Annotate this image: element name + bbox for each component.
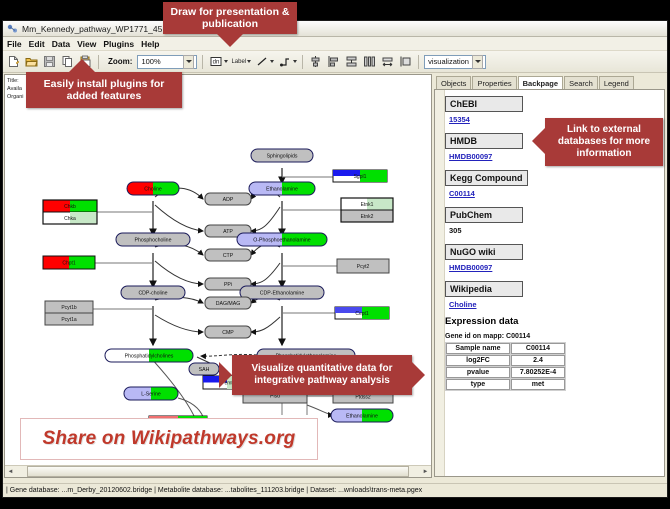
svg-text:SAH: SAH xyxy=(199,367,210,373)
svg-text:Etnk2: Etnk2 xyxy=(361,214,374,220)
svg-text:dn: dn xyxy=(213,60,220,66)
svg-text:Chka: Chka xyxy=(64,216,76,222)
callout-plugins: Easily install plugins for added feature… xyxy=(26,72,182,108)
title-bar: Mm_Kennedy_pathway_WP1771_45176.gpml xyxy=(3,21,667,37)
share-text: Share on Wikipathways.org xyxy=(43,428,296,450)
tab-objects[interactable]: Objects xyxy=(436,76,471,89)
gene-chpt1: Chpt1 xyxy=(43,256,95,269)
callout-draw-arrow xyxy=(217,34,243,47)
gene-sgpl1: Sgpl1 xyxy=(333,170,387,182)
canvas-hscrollbar[interactable]: ◄ ► xyxy=(5,465,431,477)
node-adp: ADP xyxy=(205,193,251,205)
expression-data-title: Expression data xyxy=(445,316,661,327)
pathway-drawing[interactable]: Title: Availa Organi xyxy=(5,75,431,477)
scroll-right-icon[interactable]: ► xyxy=(420,467,431,476)
node-cdp-ethanolamine: CDP-Ethanolamine xyxy=(240,286,324,299)
svg-text:CTP: CTP xyxy=(223,253,234,259)
table-row: Sample name C00114 xyxy=(446,343,565,354)
cell-key: pvalue xyxy=(446,367,510,378)
zoom-value: 100% xyxy=(141,57,160,66)
node-dag-mag: DAG/MAG xyxy=(205,297,251,309)
cell-key: type xyxy=(446,379,510,390)
cell-value: 7.80252E-4 xyxy=(511,367,565,378)
callout-link: Link to external databases for more info… xyxy=(545,118,663,166)
svg-text:Ethanolamine: Ethanolamine xyxy=(266,186,298,192)
menu-item-help[interactable]: Help xyxy=(141,39,159,49)
db-link-wikipedia[interactable]: Choline xyxy=(449,300,661,309)
meta-title: Title: xyxy=(7,78,24,86)
zoom-combo[interactable]: 100% xyxy=(137,55,197,69)
svg-text:Phosphatidylcholines: Phosphatidylcholines xyxy=(125,353,174,359)
cell-value: 2.4 xyxy=(511,355,565,366)
tab-properties[interactable]: Properties xyxy=(472,76,516,89)
gene-id-line: Gene id on mapp: C00114 xyxy=(445,333,661,340)
svg-text:Pcyt2: Pcyt2 xyxy=(357,264,370,270)
db-header-nugo: NuGO wiki xyxy=(445,244,523,260)
db-header-chebi: ChEBI xyxy=(445,96,523,112)
table-row: type met xyxy=(446,379,565,390)
db-value-pubchem: 305 xyxy=(449,226,661,235)
tool-bar[interactable]: Zoom: 100% dn Label xyxy=(3,51,667,73)
svg-text:DAG/MAG: DAG/MAG xyxy=(216,301,241,307)
toolbar-separator-3 xyxy=(302,55,303,69)
scroll-thumb[interactable] xyxy=(27,466,409,477)
db-link-nugo[interactable]: HMDB00097 xyxy=(449,263,661,272)
node-phosphocholine: Phosphocholine xyxy=(116,233,190,246)
gene-cept1: Cept1 xyxy=(335,307,389,319)
svg-text:Cept1: Cept1 xyxy=(355,311,369,317)
gene-pcyt1b: Pcyt1b xyxy=(45,301,93,313)
gene-pcyt1a: Pcyt1a xyxy=(45,313,93,325)
menu-item-file[interactable]: File xyxy=(7,39,22,49)
visualization-combo[interactable]: visualization xyxy=(424,55,486,69)
svg-text:Chpt1: Chpt1 xyxy=(62,261,76,267)
node-ethanolamine-top: Ethanolamine xyxy=(249,182,315,195)
callout-visualize-arrow xyxy=(219,362,232,388)
screenshot-root: Mm_Kennedy_pathway_WP1771_45176.gpml Fil… xyxy=(0,0,670,509)
cell-key: Sample name xyxy=(446,343,510,354)
meta-organism: Organi xyxy=(7,94,24,102)
menu-item-data[interactable]: Data xyxy=(52,39,70,49)
svg-text:Etnk1: Etnk1 xyxy=(361,202,374,208)
stack-vertical-icon[interactable] xyxy=(344,54,359,69)
node-phosphatidylcholines: Phosphatidylcholines xyxy=(105,349,193,362)
callout-visualize: Visualize quantitative data for integrat… xyxy=(232,355,412,395)
tab-backpage[interactable]: Backpage xyxy=(518,76,563,90)
db-header-hmdb: HMDB xyxy=(445,133,523,149)
svg-text:Ptdss2: Ptdss2 xyxy=(355,395,371,401)
svg-text:Sphingolipids: Sphingolipids xyxy=(267,153,298,159)
toolbar-separator-2 xyxy=(202,55,203,69)
menu-bar[interactable]: File Edit Data View Plugins Help xyxy=(3,37,667,51)
db-header-pubchem: PubChem xyxy=(445,207,523,223)
common-height-icon[interactable] xyxy=(398,54,413,69)
align-left-icon[interactable] xyxy=(326,54,341,69)
node-sphingolipids: Sphingolipids xyxy=(251,149,313,162)
line-icon[interactable] xyxy=(254,54,269,69)
gene-chkb-chka: Chkb Chka xyxy=(43,200,97,224)
menu-item-plugins[interactable]: Plugins xyxy=(103,39,134,49)
toolbar-separator xyxy=(98,55,99,69)
db-header-wikipedia: Wikipedia xyxy=(445,281,523,297)
svg-text:CMP: CMP xyxy=(222,330,234,336)
tab-search[interactable]: Search xyxy=(564,76,598,89)
toolbar-separator-4 xyxy=(418,55,419,69)
save-icon[interactable] xyxy=(42,54,57,69)
gene-etnk1-etnk2: Etnk1 Etnk2 xyxy=(341,198,393,222)
panel-vscrollbar[interactable] xyxy=(435,90,445,476)
datanode-dropdown[interactable]: dn xyxy=(208,54,228,69)
svg-text:Sgpl1: Sgpl1 xyxy=(354,174,367,180)
svg-text:PPi: PPi xyxy=(224,282,232,288)
label-icon[interactable]: Label xyxy=(231,59,246,65)
scroll-left-icon[interactable]: ◄ xyxy=(5,467,16,476)
canvas-meta-labels: Title: Availa Organi xyxy=(7,78,24,102)
callout-link-arrow xyxy=(532,128,545,154)
menu-item-edit[interactable]: Edit xyxy=(29,39,45,49)
svg-text:Pcyt1b: Pcyt1b xyxy=(61,305,77,311)
svg-text:CDP-Ethanolamine: CDP-Ethanolamine xyxy=(260,290,305,296)
callout-visualize-arrow-right xyxy=(412,362,425,388)
svg-text:ATP: ATP xyxy=(223,229,233,235)
svg-text:Phosphocholine: Phosphocholine xyxy=(135,237,172,243)
datanode-icon[interactable]: dn xyxy=(208,54,223,69)
new-icon[interactable] xyxy=(6,54,21,69)
meta-availability: Availa xyxy=(7,86,24,94)
common-width-icon[interactable] xyxy=(380,54,395,69)
status-text: | Gene database: ...m_Derby_20120602.bri… xyxy=(6,487,422,494)
svg-text:Chkb: Chkb xyxy=(64,204,76,210)
cell-value: met xyxy=(511,379,565,390)
svg-text:L-Serine: L-Serine xyxy=(141,391,161,397)
callout-draw: Draw for presentation & publication xyxy=(163,2,297,34)
tab-legend[interactable]: Legend xyxy=(599,76,634,89)
sidebar-tabs[interactable]: Objects Properties Backpage Search Legen… xyxy=(433,74,666,89)
chevron-down-icon[interactable] xyxy=(183,55,194,69)
node-ethanolamine-bottom: Ethanolamine xyxy=(331,409,393,422)
svg-text:CDP-choline: CDP-choline xyxy=(138,290,167,296)
node-l-serine-left: L-Serine xyxy=(124,387,178,400)
interaction-icon[interactable] xyxy=(277,54,292,69)
table-row: pvalue 7.80252E-4 xyxy=(446,367,565,378)
line-dropdown[interactable] xyxy=(254,54,274,69)
open-icon[interactable] xyxy=(24,54,39,69)
node-sah: SAH xyxy=(189,363,219,375)
expression-table: Sample name C00114 log2FC 2.4 pvalue 7.8… xyxy=(445,342,566,391)
svg-text:Ethanolamine: Ethanolamine xyxy=(346,413,378,419)
cell-key: log2FC xyxy=(446,355,510,366)
node-cmp: CMP xyxy=(205,326,251,338)
label-dropdown[interactable]: Label xyxy=(231,59,251,65)
menu-item-view[interactable]: View xyxy=(77,39,96,49)
db-link-kegg[interactable]: C00114 xyxy=(449,189,661,198)
status-bar: | Gene database: ...m_Derby_20120602.bri… xyxy=(3,483,667,497)
node-choline-top: Choline xyxy=(127,182,179,195)
callout-plugins-arrow xyxy=(69,59,95,72)
node-ctp: CTP xyxy=(205,249,251,261)
svg-text:Pcyt1a: Pcyt1a xyxy=(61,317,77,323)
gene-pcyt2: Pcyt2 xyxy=(337,259,389,273)
align-center-icon[interactable] xyxy=(308,54,323,69)
zoom-label: Zoom: xyxy=(108,57,132,66)
table-row: log2FC 2.4 xyxy=(446,355,565,366)
node-o-phosphoethanolamine: O-Phosphoethanolamine xyxy=(237,233,327,246)
svg-text:ADP: ADP xyxy=(223,197,234,203)
svg-text:Choline: Choline xyxy=(144,186,162,192)
callout-share: Share on Wikipathways.org xyxy=(20,418,318,460)
chevron-down-icon-2[interactable] xyxy=(472,55,483,69)
node-cdp-choline: CDP-choline xyxy=(121,286,185,299)
pathvisio-icon xyxy=(7,23,18,34)
cell-value: C00114 xyxy=(511,343,565,354)
pathway-svg[interactable]: Sphingolipids Choline Ethanolamine xyxy=(5,75,431,477)
interaction-dropdown[interactable] xyxy=(277,54,297,69)
visualization-value: visualization xyxy=(428,57,469,66)
db-header-kegg: Kegg Compound xyxy=(445,170,528,186)
svg-text:O-Phosphoethanolamine: O-Phosphoethanolamine xyxy=(253,237,311,243)
distribute-icon[interactable] xyxy=(362,54,377,69)
